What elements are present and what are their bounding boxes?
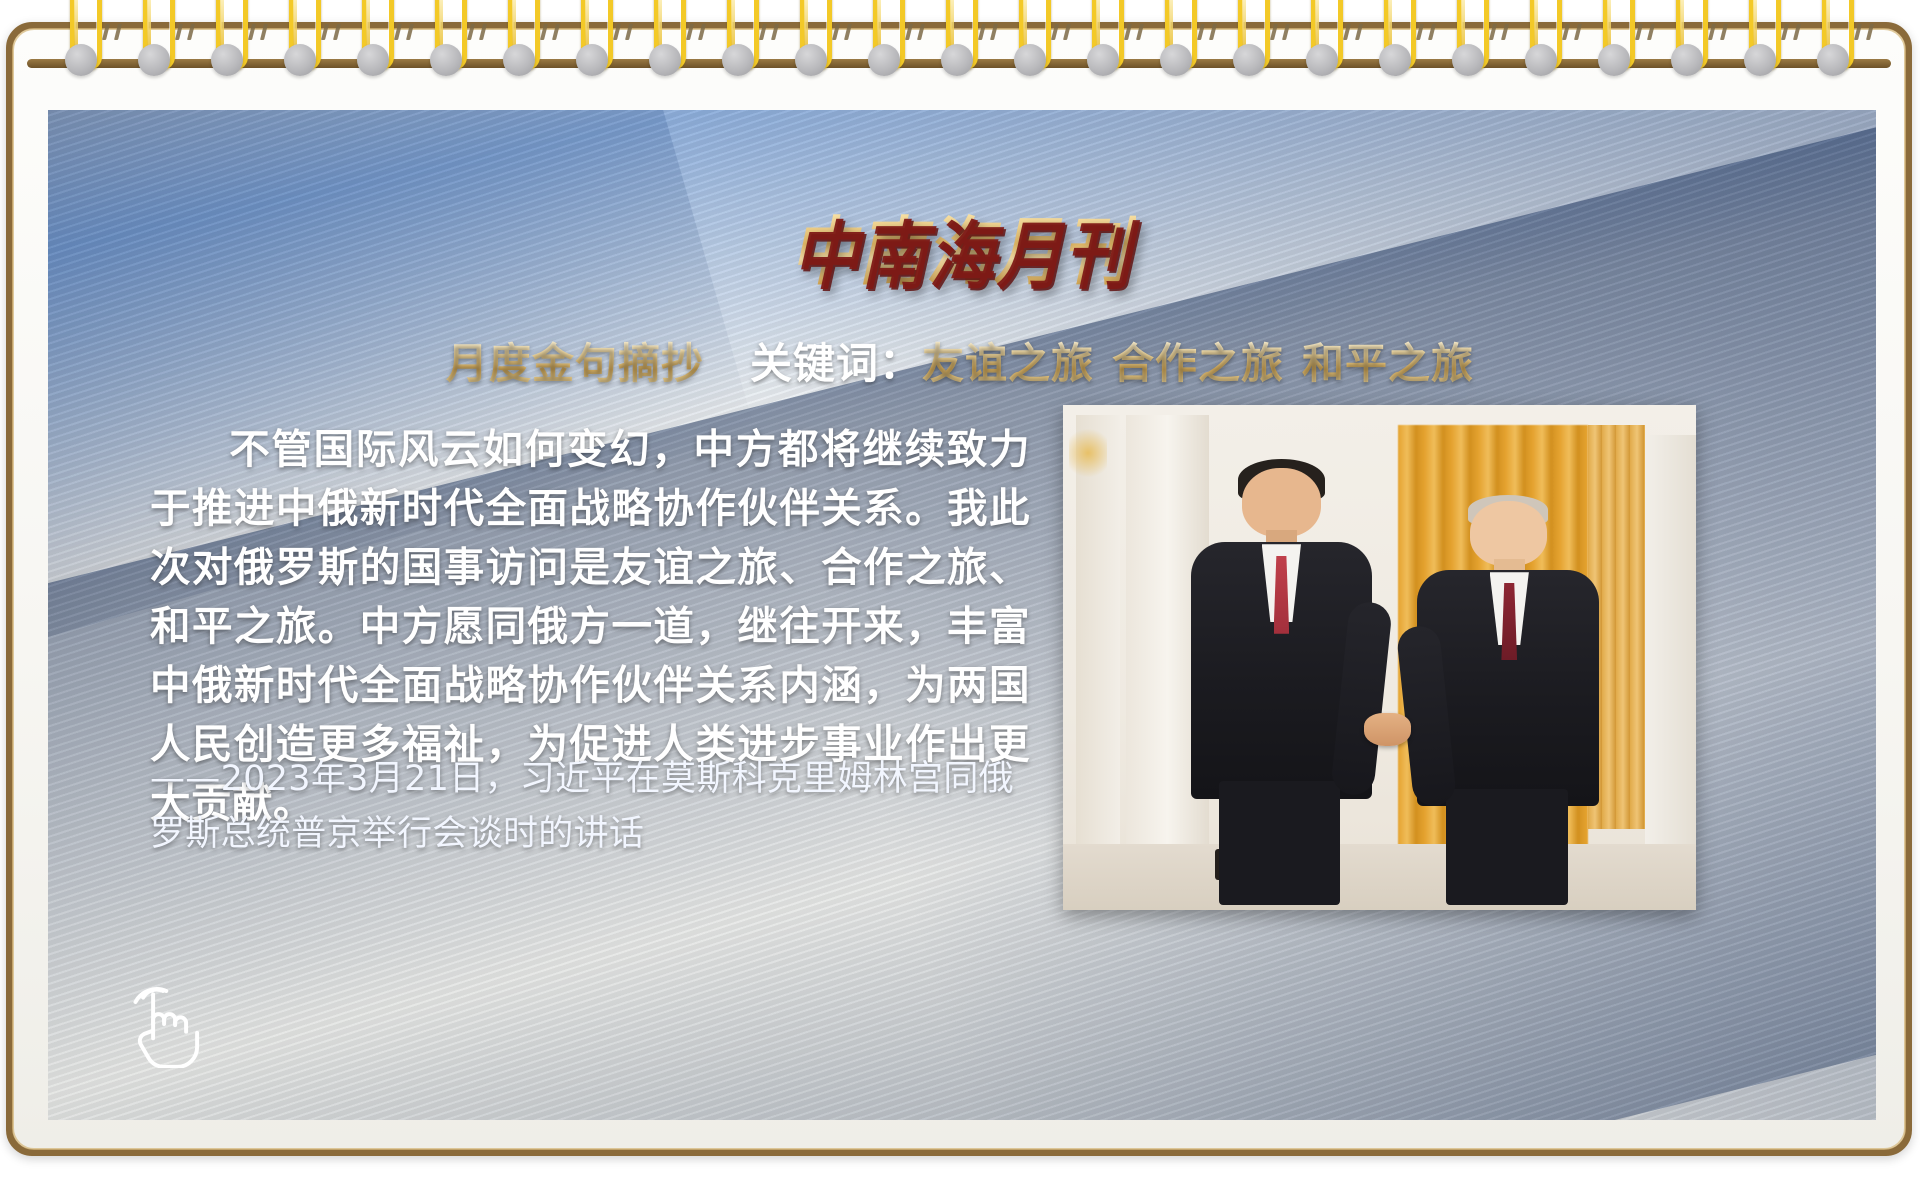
- spiral-perforation-tick: [102, 24, 110, 40]
- quote-attribution: ——2023年3月21日，习近平在莫斯科克里姆林宫同俄罗斯总统普京举行会谈时的讲…: [150, 752, 1040, 862]
- spiral-perforation-tick: [1574, 24, 1582, 40]
- keyword-peace: 和平之旅: [1302, 339, 1474, 388]
- spiral-perforation-tick: [759, 24, 767, 40]
- spiral-perforation-tick: [333, 24, 341, 40]
- spiral-perforation-tick: [1793, 24, 1801, 40]
- spiral-perforation-tick: [467, 24, 475, 40]
- spiral-perforation-tick: [114, 24, 122, 40]
- spiral-perforation-tick: [698, 24, 706, 40]
- spiral-ring-hole: [1598, 44, 1630, 76]
- spiral-ring-hole: [1233, 44, 1265, 76]
- spiral-ring-hole: [1452, 44, 1484, 76]
- spiral-ring: [66, 0, 96, 78]
- spiral-perforation-tick: [187, 24, 195, 40]
- spiral-ring-hole: [1087, 44, 1119, 76]
- spiral-perforation-tick: [1635, 24, 1643, 40]
- keyword-friendship: 友谊之旅: [922, 339, 1094, 388]
- spiral-perforation-tick: [406, 24, 414, 40]
- spiral-ring: [796, 0, 826, 78]
- spiral-perforation-tick: [1720, 24, 1728, 40]
- photo-person-right: [1411, 476, 1607, 905]
- photo-pillar-far-left: [1076, 415, 1120, 880]
- spiral-ring-hole: [868, 44, 900, 76]
- spiral-ring-hole: [1525, 44, 1557, 76]
- spiral-ring: [1453, 0, 1483, 78]
- spiral-ring-hole: [1744, 44, 1776, 76]
- spiral-ring-hole: [1160, 44, 1192, 76]
- spiral-ring: [1818, 0, 1848, 78]
- photo-person-right-head: [1470, 501, 1547, 565]
- spiral-ring: [1161, 0, 1191, 78]
- spiral-perforation-tick: [1854, 24, 1862, 40]
- spiral-ring: [1015, 0, 1045, 78]
- spiral-perforation-tick: [1051, 24, 1059, 40]
- photo-person-left: [1183, 445, 1379, 905]
- spiral-perforation-tick: [1124, 24, 1132, 40]
- photo-person-right-trousers: [1446, 789, 1568, 905]
- spiral-perforation-tick: [917, 24, 925, 40]
- spiral-ring: [650, 0, 680, 78]
- spiral-perforation-tick: [771, 24, 779, 40]
- spiral-ring: [1380, 0, 1410, 78]
- subtitle-keyword-label: 关键词：: [750, 339, 922, 388]
- spiral-perforation-tick: [1209, 24, 1217, 40]
- spiral-ring-hole: [503, 44, 535, 76]
- spiral-perforation-tick: [1562, 24, 1570, 40]
- photo-handshake: [1364, 713, 1411, 746]
- spiral-perforation-tick: [1282, 24, 1290, 40]
- spiral-perforation-tick: [1197, 24, 1205, 40]
- spiral-ring: [139, 0, 169, 78]
- spiral-binding: [0, 0, 1920, 120]
- spiral-ring-hole: [138, 44, 170, 76]
- spiral-ring-hole: [649, 44, 681, 76]
- spiral-perforation-tick: [905, 24, 913, 40]
- spiral-ring: [431, 0, 461, 78]
- spiral-perforation-tick: [1343, 24, 1351, 40]
- spiral-perforation-tick: [1270, 24, 1278, 40]
- spiral-perforation-tick: [540, 24, 548, 40]
- keyword-cooperation: 合作之旅: [1112, 339, 1284, 388]
- photo-person-left-trousers: [1219, 781, 1341, 905]
- spiral-ring: [1307, 0, 1337, 78]
- spiral-perforation-tick: [686, 24, 694, 40]
- spiral-ring-hole: [65, 44, 97, 76]
- spiral-ring: [1599, 0, 1629, 78]
- spiral-perforation-tick: [990, 24, 998, 40]
- spiral-ring-hole: [357, 44, 389, 76]
- photo-person-left-head: [1242, 468, 1320, 537]
- spiral-perforation-tick: [260, 24, 268, 40]
- spiral-perforation-tick: [1866, 24, 1874, 40]
- spiral-ring: [1672, 0, 1702, 78]
- spiral-perforation-tick: [1781, 24, 1789, 40]
- masthead: 中南海月刊: [0, 198, 1920, 294]
- spiral-ring-hole: [941, 44, 973, 76]
- spiral-perforation-tick: [1708, 24, 1716, 40]
- spiral-ring-hole: [1014, 44, 1046, 76]
- spiral-perforation-tick: [248, 24, 256, 40]
- spiral-ring: [577, 0, 607, 78]
- spiral-perforation-tick: [832, 24, 840, 40]
- photo-door: [1645, 435, 1696, 859]
- leaders-handshake-photo: [1063, 405, 1696, 910]
- spiral-ring: [869, 0, 899, 78]
- spiral-perforation-tick: [1647, 24, 1655, 40]
- spiral-ring: [1745, 0, 1775, 78]
- spiral-ring: [285, 0, 315, 78]
- spiral-ring: [504, 0, 534, 78]
- spiral-ring-hole: [576, 44, 608, 76]
- spiral-perforation-tick: [479, 24, 487, 40]
- spiral-ring-hole: [722, 44, 754, 76]
- spiral-perforation-tick: [1489, 24, 1497, 40]
- spiral-ring-hole: [430, 44, 462, 76]
- spiral-perforation-tick: [1428, 24, 1436, 40]
- spiral-perforation-tick: [1136, 24, 1144, 40]
- spiral-ring-hole: [795, 44, 827, 76]
- spiral-ring: [723, 0, 753, 78]
- spiral-perforation-tick: [1063, 24, 1071, 40]
- spiral-perforation-tick: [1501, 24, 1509, 40]
- publication-title: 中南海月刊: [784, 192, 1136, 300]
- spiral-ring-hole: [1671, 44, 1703, 76]
- tap-hand-icon[interactable]: [108, 958, 218, 1068]
- spiral-ring-hole: [1817, 44, 1849, 76]
- spiral-perforation-tick: [625, 24, 633, 40]
- spiral-perforation-tick: [175, 24, 183, 40]
- spiral-perforation-tick: [978, 24, 986, 40]
- spiral-ring: [212, 0, 242, 78]
- spiral-perforation-tick: [1416, 24, 1424, 40]
- spiral-perforation-tick: [844, 24, 852, 40]
- spiral-perforation-tick: [613, 24, 621, 40]
- spiral-ring: [1088, 0, 1118, 78]
- subtitle-line: 月度金句摘抄关键词：友谊之旅合作之旅和平之旅: [0, 330, 1920, 391]
- subtitle-section-label: 月度金句摘抄: [446, 339, 704, 388]
- spiral-perforation-tick: [552, 24, 560, 40]
- notepad-page: 中南海月刊 月度金句摘抄关键词：友谊之旅合作之旅和平之旅 不管国际风云如何变幻，…: [0, 0, 1920, 1180]
- spiral-ring: [358, 0, 388, 78]
- spiral-ring-hole: [284, 44, 316, 76]
- spiral-ring: [1234, 0, 1264, 78]
- spiral-ring-hole: [1379, 44, 1411, 76]
- spiral-ring-hole: [1306, 44, 1338, 76]
- spiral-ring: [1526, 0, 1556, 78]
- spiral-perforation-tick: [394, 24, 402, 40]
- spiral-perforation-tick: [1355, 24, 1363, 40]
- photo-chandelier: [1069, 425, 1107, 481]
- spiral-ring: [942, 0, 972, 78]
- spiral-perforation-tick: [321, 24, 329, 40]
- spiral-ring-hole: [211, 44, 243, 76]
